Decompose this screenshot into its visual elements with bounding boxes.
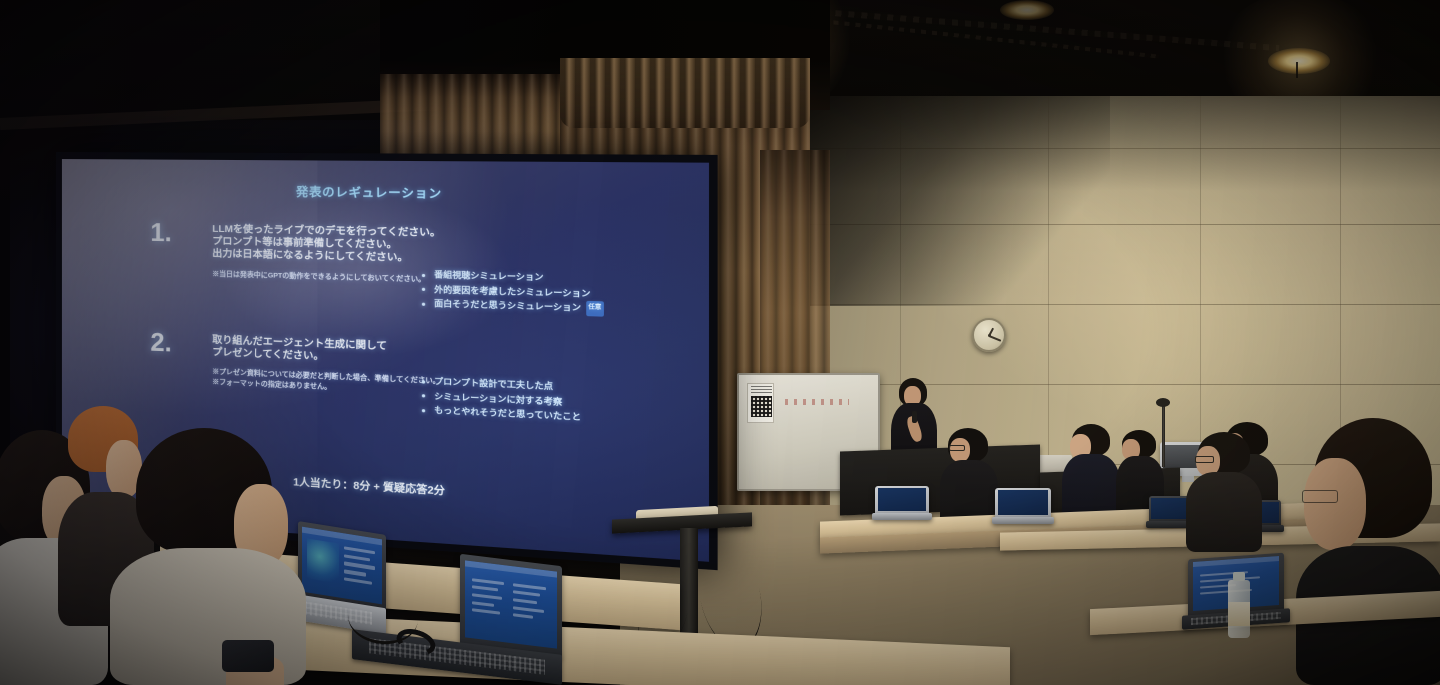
wall-clock-icon (972, 318, 1006, 352)
ceiling-light-icon (1000, 0, 1054, 20)
slide-footer: 1人当たり：8分 + 質疑応答2分 (293, 473, 445, 498)
glasses-icon (1195, 456, 1214, 463)
bullet-text: 面白そうだと思うシミュレーション (434, 299, 581, 313)
phone-device (222, 640, 274, 672)
laptop-screen (465, 560, 557, 649)
slide-bullets-1: 番組視聴シミュレーション 外的要因を考慮したシミュレーション 面白そうだと思うシ… (420, 267, 604, 316)
bullet-tag: 任意 (586, 301, 604, 316)
item-number: 1. (150, 221, 171, 247)
attendee-6 (1296, 418, 1440, 685)
slide-bullets-2: プロンプト設計で工夫した点 シミュレーションに対する考察 もっとやれそうだと思っ… (420, 374, 581, 425)
attendee-1 (940, 428, 998, 528)
microphone-icon (912, 411, 917, 423)
attendee-5 (1186, 432, 1262, 552)
seminar-room-photo: 発表のレギュレーション 1. LLMを使ったライブでのデモを行ってください。 プ… (0, 0, 1440, 685)
water-bottle (1228, 580, 1250, 638)
laptop (992, 488, 1054, 526)
slide-title: 発表のレギュレーション (296, 183, 442, 201)
mic-head-icon (1156, 398, 1170, 407)
ceiling-light-icon (1268, 48, 1330, 74)
light-cable (1296, 62, 1298, 78)
glasses-icon (1302, 490, 1338, 503)
laptop (872, 486, 932, 522)
glasses-icon (949, 445, 965, 451)
curtain-valance (560, 58, 810, 128)
bullet-text: 外的要因を考慮したシミュレーション (434, 284, 590, 298)
qr-poster (747, 383, 774, 423)
laptop-screen (878, 488, 927, 512)
laptop-screen (998, 490, 1048, 515)
item-number: 2. (150, 330, 171, 356)
bullet-text: 番組視聴シミュレーション (434, 270, 543, 282)
qr-code-icon (751, 396, 772, 417)
